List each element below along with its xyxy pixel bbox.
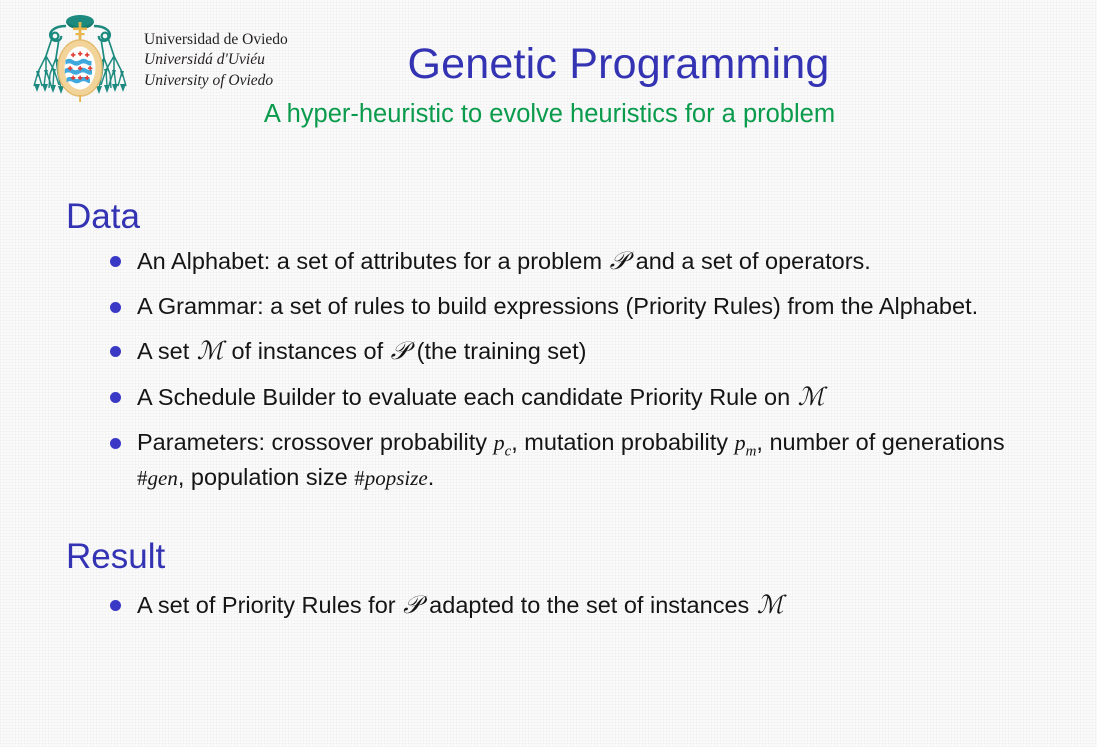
bullet-item: An Alphabet: a set of attributes for a p… [110, 245, 1057, 277]
bullet-item: A set ℳ of instances of 𝒫 (the training … [110, 335, 1057, 367]
bullet-list-result: A set of Priority Rules for 𝒫 adapted to… [0, 589, 1097, 621]
section-data: Data An Alphabet: a set of attributes fo… [0, 196, 1097, 492]
bullet-item: A set of Priority Rules for 𝒫 adapted to… [110, 589, 1057, 621]
section-result: Result A set of Priority Rules for 𝒫 ada… [0, 536, 1097, 621]
slide-title: Genetic Programming [0, 40, 1097, 89]
math-calligraphic-m: ℳ [196, 336, 225, 365]
bullet-list-data: An Alphabet: a set of attributes for a p… [0, 245, 1097, 492]
math-symbol-hash-gen: #gen [137, 466, 178, 490]
section-heading-data: Data [66, 196, 1097, 237]
bullet-item: Parameters: crossover probability pc, mu… [110, 427, 1057, 492]
slide-content: Data An Alphabet: a set of attributes fo… [0, 196, 1097, 621]
math-symbol-hash-popsize: #popsize [354, 466, 428, 490]
math-calligraphic-p: 𝒫 [390, 336, 411, 365]
math-calligraphic-p: 𝒫 [402, 590, 423, 619]
bullet-item: A Schedule Builder to evaluate each cand… [110, 381, 1057, 413]
math-calligraphic-m: ℳ [756, 590, 785, 619]
bullet-item: A Grammar: a set of rules to build expre… [110, 291, 1057, 321]
math-variable-pm: pm [735, 430, 757, 455]
section-heading-result: Result [66, 536, 1097, 577]
math-calligraphic-p: 𝒫 [609, 246, 630, 275]
math-calligraphic-m: ℳ [797, 382, 826, 411]
math-variable-pc: pc [494, 430, 512, 455]
slide-canvas: Universidad de Oviedo Universidá d'Uviéu… [0, 0, 1097, 747]
slide-subtitle: A hyper-heuristic to evolve heuristics f… [0, 100, 1097, 129]
